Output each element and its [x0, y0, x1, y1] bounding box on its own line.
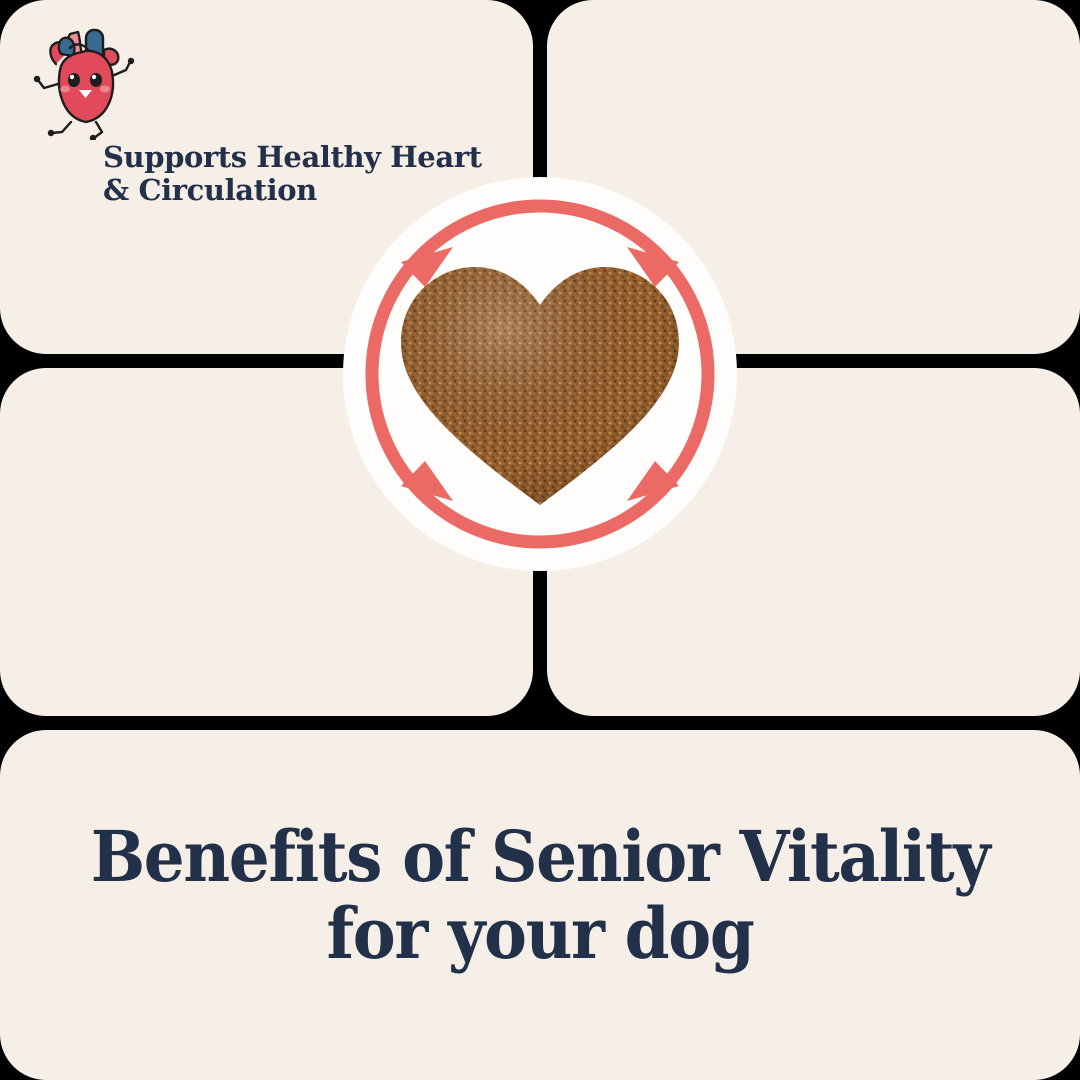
- benefit-card-cellular: Supports cellular energy & overall vital…: [0, 368, 533, 716]
- benefit-card-heart: Supports Healthy Heart & Circulation: [0, 0, 533, 354]
- page-title: Benefits of Senior Vitality for your dog: [43, 818, 1037, 972]
- benefit-label-heart: Supports Healthy Heart & Circulation: [103, 141, 503, 207]
- infographic-root: Supports Healthy Heart & Circulation: [0, 0, 1080, 1080]
- benefit-card-antioxidant: Antioxidant support for healthy aging: [547, 368, 1080, 716]
- benefit-card-brain: Helps Maintain Brain Function & Alertnes…: [547, 0, 1080, 354]
- anatomical-heart-character-icon: [26, 18, 146, 140]
